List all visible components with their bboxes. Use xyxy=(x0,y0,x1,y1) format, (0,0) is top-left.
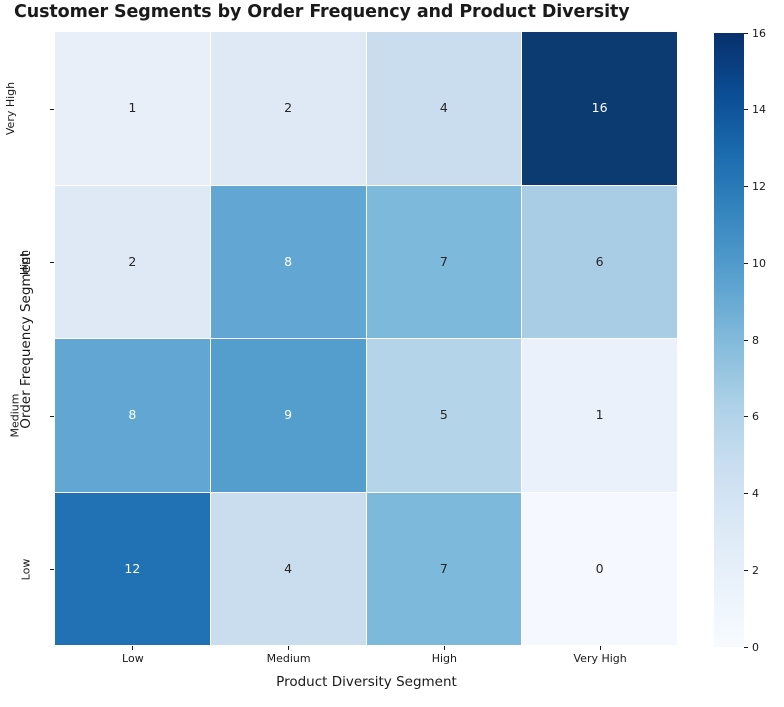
colorbar-tick-labels: 1614121086420 xyxy=(744,33,784,647)
heatmap-cell-value: 9 xyxy=(284,409,292,422)
colorbar: 1614121086420 xyxy=(714,33,744,647)
colorbar-tick-text: 4 xyxy=(752,488,759,499)
colorbar-tick-mark xyxy=(744,109,748,110)
colorbar-tick-text: 16 xyxy=(752,28,766,39)
heatmap-cell: 8 xyxy=(55,339,211,493)
x-axis-tick-label: Low xyxy=(55,652,211,672)
y-axis-tick-mark xyxy=(50,416,54,417)
heatmap-cell-value: 4 xyxy=(284,563,292,576)
heatmap-cell: 9 xyxy=(211,339,367,493)
colorbar-tick-mark xyxy=(744,340,748,341)
heatmap-cell-value: 6 xyxy=(596,256,604,269)
heatmap-cell-value: 2 xyxy=(284,102,292,115)
heatmap-cell-value: 1 xyxy=(596,409,604,422)
heatmap-cell-value: 7 xyxy=(440,563,448,576)
heatmap-cell: 16 xyxy=(522,32,678,186)
heatmap-cell: 0 xyxy=(522,493,678,647)
heatmap-cell-value: 8 xyxy=(128,409,136,422)
heatmap-cell: 2 xyxy=(211,32,367,186)
colorbar-tick-mark xyxy=(744,493,748,494)
colorbar-tick-text: 10 xyxy=(752,258,766,269)
heatmap-cell: 1 xyxy=(55,32,211,186)
x-axis-tick-mark xyxy=(367,646,523,650)
x-axis-tick-mark xyxy=(211,646,367,650)
colorbar-tick-text: 12 xyxy=(752,181,766,192)
x-axis-tick-marks xyxy=(55,646,678,650)
heatmap-cell: 7 xyxy=(367,186,523,340)
colorbar-tick-text: 2 xyxy=(752,565,759,576)
x-axis-tick-label: High xyxy=(367,652,523,672)
colorbar-tick-mark xyxy=(744,33,748,34)
heatmap-cell: 6 xyxy=(522,186,678,340)
heatmap-cell-value: 7 xyxy=(440,256,448,269)
colorbar-gradient xyxy=(714,33,744,647)
heatmap-cell-value: 12 xyxy=(124,563,140,576)
x-axis-tick-label: Very High xyxy=(522,652,678,672)
heatmap-cell-value: 2 xyxy=(128,256,136,269)
colorbar-tick-text: 6 xyxy=(752,411,759,422)
heatmap-plot-area: 124162876895112470 xyxy=(55,32,678,646)
y-axis-tick-mark xyxy=(50,262,54,263)
heatmap-cell: 4 xyxy=(367,32,523,186)
heatmap-cell: 8 xyxy=(211,186,367,340)
heatmap-cell-value: 1 xyxy=(128,102,136,115)
y-axis-tick-mark xyxy=(50,569,54,570)
heatmap-cell-value: 4 xyxy=(440,102,448,115)
heatmap-cell: 4 xyxy=(211,493,367,647)
colorbar-tick-mark xyxy=(744,647,748,648)
colorbar-tick-mark xyxy=(744,263,748,264)
heatmap-cell: 2 xyxy=(55,186,211,340)
heatmap-cell: 1 xyxy=(522,339,678,493)
x-axis-tick-mark xyxy=(55,646,211,650)
x-axis-tick-mark xyxy=(522,646,678,650)
colorbar-tick-mark xyxy=(744,570,748,571)
heatmap-cell-value: 8 xyxy=(284,256,292,269)
x-axis-title: Product Diversity Segment xyxy=(55,674,678,690)
y-axis-title: Order Frequency Segment xyxy=(18,33,34,647)
x-axis-tick-label: Medium xyxy=(211,652,367,672)
colorbar-tick-text: 14 xyxy=(752,104,766,115)
colorbar-tick-mark xyxy=(744,186,748,187)
heatmap-cell-value: 16 xyxy=(592,102,608,115)
heatmap-cell-value: 5 xyxy=(440,409,448,422)
chart-title: Customer Segments by Order Frequency and… xyxy=(14,2,714,22)
heatmap-cell: 12 xyxy=(55,493,211,647)
x-axis-tick-labels: LowMediumHighVery High xyxy=(55,652,678,672)
colorbar-tick-text: 0 xyxy=(752,642,759,653)
y-axis-tick-text: Very High xyxy=(4,82,17,135)
heatmap-figure: Customer Segments by Order Frequency and… xyxy=(0,0,784,707)
y-axis-tick-mark xyxy=(50,109,54,110)
heatmap-cell: 7 xyxy=(367,493,523,647)
heatmap-cell: 5 xyxy=(367,339,523,493)
heatmap-cell-value: 0 xyxy=(596,563,604,576)
colorbar-tick-text: 8 xyxy=(752,335,759,346)
colorbar-tick-mark xyxy=(744,416,748,417)
